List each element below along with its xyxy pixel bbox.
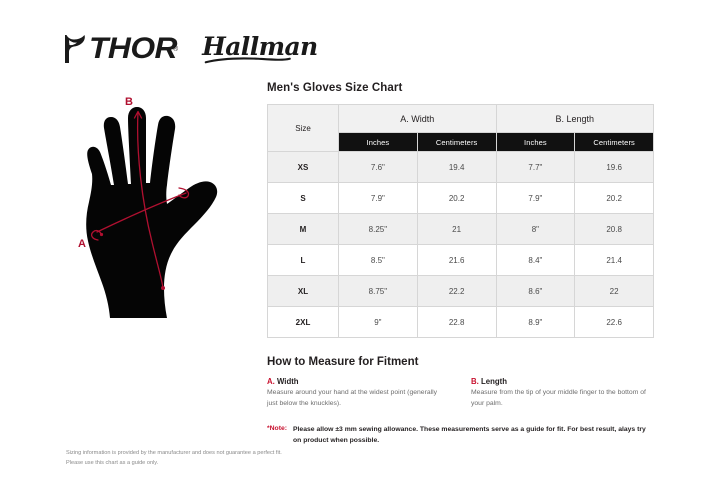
hand-measurement-diagram: B A [62,92,262,324]
table-row: XL 8.75" 22.2 8.6" 22 [268,276,654,307]
cell-length-centimeters: 20.8 [575,214,654,245]
table-header-row-groups: Size A. Width B. Length [268,105,654,133]
how-to-width-block: A. Width Measure around your hand at the… [267,377,449,409]
cell-length-centimeters: 21.4 [575,245,654,276]
cell-length-centimeters: 19.6 [575,152,654,183]
cell-size: M [268,214,339,245]
hallman-underline-swash [204,57,292,64]
cell-length-inches: 8.6" [496,276,575,307]
footer-line-1: Sizing information is provided by the ma… [66,449,396,459]
cell-width-inches: 8.5" [339,245,418,276]
how-to-width-name: Width [277,377,299,386]
column-header-width-inches: Inches [339,133,418,152]
page-title: Men's Gloves Size Chart [267,82,654,94]
how-to-length-letter: B. [471,377,479,386]
cell-width-inches: 8.75" [339,276,418,307]
cell-length-inches: 8.9" [496,307,575,338]
table-row: L 8.5" 21.6 8.4" 21.4 [268,245,654,276]
table-body: XS 7.6" 19.4 7.7" 19.6 S 7.9" 20.2 7.9" … [268,152,654,338]
cell-width-centimeters: 21.6 [417,245,496,276]
cell-width-inches: 9" [339,307,418,338]
cell-width-centimeters: 22.2 [417,276,496,307]
footer-disclaimer: Sizing information is provided by the ma… [66,449,396,469]
table-row: S 7.9" 20.2 7.9" 20.2 [268,183,654,214]
how-to-width-heading: A. Width [267,377,449,386]
table-row: XS 7.6" 19.4 7.7" 19.6 [268,152,654,183]
how-to-width-letter: A. [267,377,275,386]
cell-size: XS [268,152,339,183]
cell-length-inches: 8.4" [496,245,575,276]
footer-line-2: Please use this chart as a guide only. [66,459,396,469]
cell-width-centimeters: 20.2 [417,183,496,214]
how-to-measure-title: How to Measure for Fitment [267,356,654,368]
cell-width-inches: 7.6" [339,152,418,183]
hand-silhouette [86,107,217,318]
column-header-length-centimeters: Centimeters [575,133,654,152]
how-to-measure-columns: A. Width Measure around your hand at the… [267,377,654,409]
table-row: M 8.25" 21 8" 20.8 [268,214,654,245]
cell-width-centimeters: 19.4 [417,152,496,183]
how-to-length-text: Measure from the tip of your middle fing… [471,388,653,409]
cell-width-inches: 7.9" [339,183,418,214]
cell-length-centimeters: 22 [575,276,654,307]
column-header-width-group: A. Width [339,105,497,133]
table-row: 2XL 9" 22.8 8.9" 22.6 [268,307,654,338]
thor-helmet-icon [62,34,88,64]
size-chart-table: Size A. Width B. Length Inches Centimete… [267,104,654,338]
how-to-length-block: B. Length Measure from the tip of your m… [471,377,653,409]
thor-logo: THOR ® [62,34,178,64]
cell-length-inches: 8" [496,214,575,245]
column-header-length-inches: Inches [496,133,575,152]
how-to-length-name: Length [481,377,507,386]
thor-wordmark: THOR [89,34,177,64]
hallman-logo: Hallman [202,34,317,64]
label-b: B [125,96,133,108]
cell-length-inches: 7.9" [496,183,575,214]
cell-length-centimeters: 20.2 [575,183,654,214]
cell-size: S [268,183,339,214]
cell-width-centimeters: 21 [417,214,496,245]
table-header: Size A. Width B. Length Inches Centimete… [268,105,654,152]
cell-size: 2XL [268,307,339,338]
note-label: *Note: [267,425,287,432]
how-to-width-text: Measure around your hand at the widest p… [267,388,449,409]
brand-header: THOR ® Hallman [62,28,318,70]
cell-length-inches: 7.7" [496,152,575,183]
cell-size: XL [268,276,339,307]
cell-width-inches: 8.25" [339,214,418,245]
cell-length-centimeters: 22.6 [575,307,654,338]
cell-size: L [268,245,339,276]
size-chart-page: THOR ® Hallman [0,0,720,492]
cell-width-centimeters: 22.8 [417,307,496,338]
column-header-size: Size [268,105,339,152]
column-header-length-group: B. Length [496,105,654,133]
chart-panel: Men's Gloves Size Chart Size A. Width B.… [267,82,654,447]
how-to-measure-section: How to Measure for Fitment A. Width Meas… [267,356,654,447]
column-header-width-centimeters: Centimeters [417,133,496,152]
note-block: *Note: Please allow ±3 mm sewing allowan… [267,425,654,447]
label-a: A [78,238,86,250]
how-to-length-heading: B. Length [471,377,653,386]
note-text: Please allow ±3 mm sewing allowance. The… [293,425,653,447]
